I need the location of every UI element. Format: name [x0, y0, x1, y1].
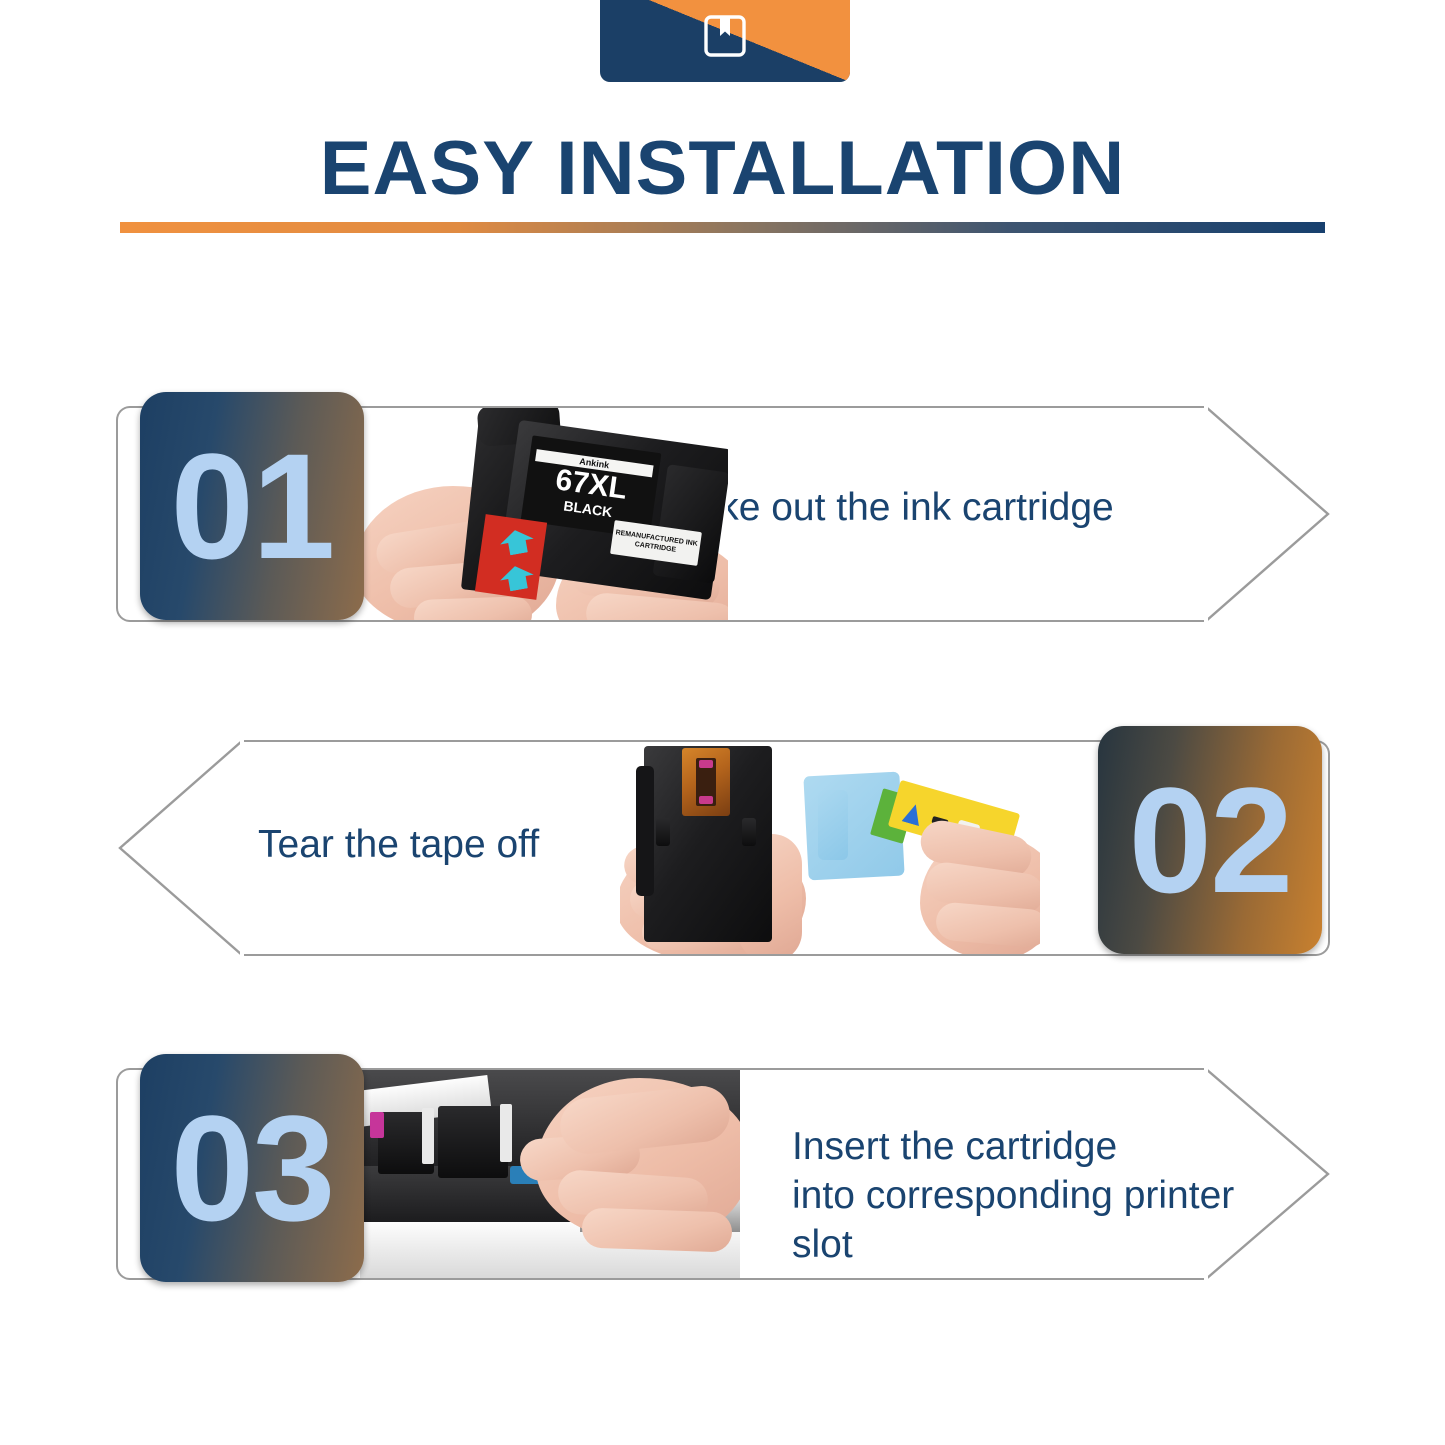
- step-02-arrow-tip: [118, 740, 244, 956]
- step-02-number: 02: [1129, 754, 1292, 927]
- bookmark-box-icon: [701, 12, 749, 60]
- infographic-page: EASY INSTALLATION: [0, 0, 1445, 1445]
- step-01-arrow-tip: [1204, 406, 1330, 622]
- step-02-text: Tear the tape off: [258, 820, 678, 869]
- step-02-photo: [620, 742, 1040, 954]
- step-03-text: Insert the cartridge into corresponding …: [792, 1122, 1262, 1269]
- step-02-number-badge: 02: [1098, 726, 1322, 954]
- header-badge: [600, 0, 850, 82]
- step-01-text: Take out the ink cartridge: [678, 483, 1178, 532]
- step-03-photo: [360, 1070, 740, 1278]
- step-03-number-badge: 03: [140, 1054, 364, 1282]
- step-03-number: 03: [171, 1082, 334, 1255]
- step-01-photo: Ankink 67XL BLACK REMANUFACTURED INK CAR…: [360, 408, 728, 620]
- page-title: EASY INSTALLATION: [0, 129, 1445, 209]
- step-01-number: 01: [171, 420, 334, 593]
- step-01-number-badge: 01: [140, 392, 364, 620]
- title-underline-bar: [120, 222, 1325, 233]
